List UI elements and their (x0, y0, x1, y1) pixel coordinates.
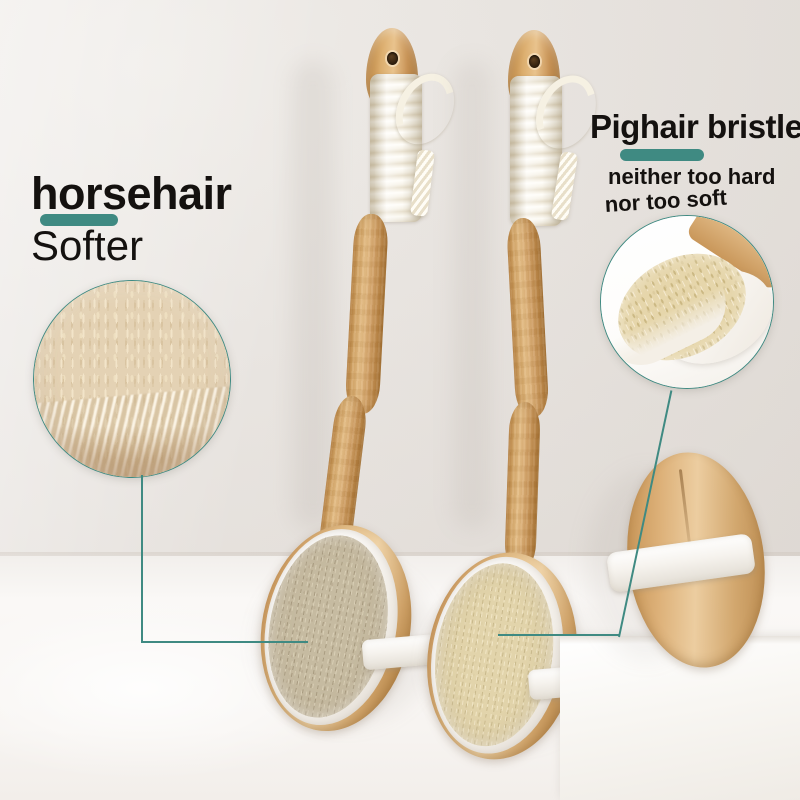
callout-circle-pighair (600, 215, 774, 389)
hanging-hole-icon (529, 55, 540, 68)
leader-line-right-horizontal (498, 634, 620, 636)
leader-line-left-horizontal (141, 641, 308, 643)
circle-inner-shading (34, 281, 230, 477)
handle-shadow (292, 60, 334, 530)
product-photo: horsehair Softer Pighair bristle neither… (0, 0, 800, 800)
heading-pighair: Pighair bristle (590, 108, 800, 146)
heading-horsehair: horsehair (31, 168, 232, 220)
subheading-softer: Softer (31, 222, 143, 270)
brush-handle-lower (504, 401, 541, 572)
handle-shadow (452, 60, 492, 530)
leader-line-left-vertical (141, 475, 143, 643)
hanging-hole-icon (387, 52, 398, 65)
callout-circle-horsehair (33, 280, 231, 478)
accent-bar-right (620, 149, 704, 161)
